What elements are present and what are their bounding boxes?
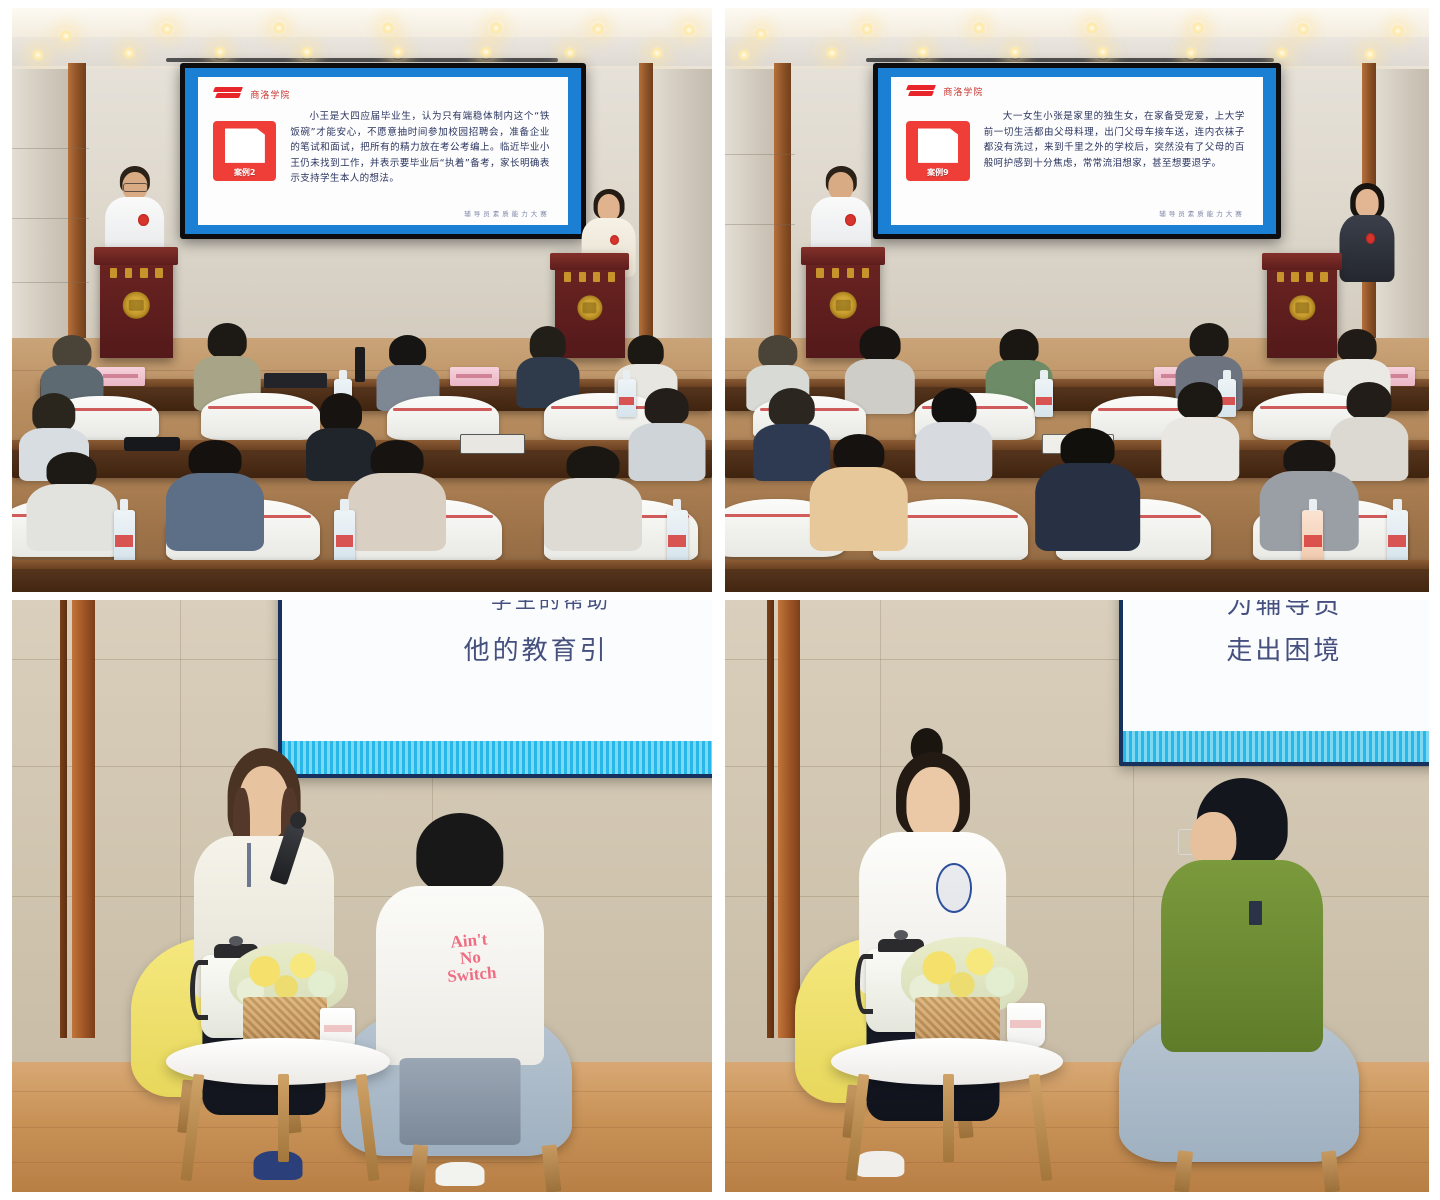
podium-emblem-icon: [830, 292, 857, 319]
water-bottle: [1302, 510, 1323, 563]
ceiling-spot-icon: [1190, 20, 1206, 36]
audience-member: [348, 440, 446, 551]
university-logo: 商洛学院: [907, 85, 983, 98]
podium-top: [94, 247, 178, 265]
audience-member: [1161, 382, 1238, 481]
ceiling-spot-icon: [824, 45, 840, 61]
paper-cup: [1007, 1003, 1046, 1047]
hair: [1347, 382, 1392, 420]
torso: [348, 473, 446, 551]
ceiling-rail: [166, 58, 558, 62]
ceiling-spot-icon: [1095, 44, 1111, 60]
ceiling-spot-icon: [681, 22, 697, 38]
chest-badge: [845, 214, 856, 226]
slide-text-line2: 他的教育引: [464, 630, 609, 667]
shirt-emblem-icon: [936, 863, 973, 913]
projection-screen: 商洛学院 案例9 大一女生小张是家里的独生女，在家备受宠爱，上大学前一切生活都由…: [873, 63, 1281, 238]
wall-pillar-left: [725, 69, 781, 338]
document-icon: [918, 128, 959, 162]
projection-screen: 为辅导员 走出困境: [1119, 600, 1429, 766]
logo-name: 商洛学院: [250, 91, 290, 101]
podium-top: [1262, 253, 1342, 270]
wall-seam: [12, 148, 89, 149]
hair: [1000, 329, 1039, 363]
audience-member: [26, 452, 117, 551]
ceiling-spot-icon: [212, 44, 228, 60]
case-body-text: 大一女生小张是家里的独生女，在家备受宠爱，上大学前一切生活都由父母料理，出门父母…: [984, 109, 1245, 201]
torso: [1035, 463, 1141, 551]
slide-text-line1: 为辅导员: [1226, 600, 1342, 621]
chest-badge: [1366, 233, 1375, 244]
panel-bottom-right: 为辅导员 走出困境: [725, 600, 1429, 1192]
ceiling-spot-icon: [478, 44, 494, 60]
slide-content: 商洛学院 案例9 大一女生小张是家里的独生女，在家备受宠爱，上大学前一切生活都由…: [891, 77, 1264, 226]
screen-edge-pattern: [282, 741, 712, 774]
slide-content: 商洛学院 案例2 小王是大四应届毕业生，认为只有端稳体制内这个“铁饭碗”才能安心…: [198, 77, 569, 226]
nameplate: [96, 367, 145, 386]
kettle-handle: [855, 954, 873, 1014]
photo-collage: 商洛学院 案例2 小王是大四应届毕业生，认为只有端稳体制内这个“铁饭碗”才能安心…: [0, 0, 1440, 1200]
glasses-icon: [123, 183, 149, 192]
panel-top-right: 商洛学院 案例9 大一女生小张是家里的独生女，在家备受宠爱，上大学前一切生活都由…: [725, 8, 1429, 592]
wood-column-right: [639, 63, 653, 343]
podium-emblem-icon: [123, 292, 149, 318]
interview-scene-1: 学生的帮助 他的教育引: [12, 600, 712, 1192]
hair: [758, 335, 797, 368]
case-badge: 案例2: [213, 121, 276, 180]
kettle-handle: [190, 960, 208, 1020]
floor-plank: [12, 1162, 712, 1163]
ceiling-spot-icon: [1295, 21, 1311, 37]
podium-nameplate: [564, 271, 614, 284]
ceiling-spot-icon: [562, 45, 578, 61]
wall-seam: [12, 896, 712, 897]
torso: [166, 473, 264, 551]
slide-footer: 辅导员素质能力大赛: [1159, 208, 1245, 218]
ceiling-spot-icon: [859, 21, 875, 37]
student-person: Ain't No Switch: [376, 813, 544, 1145]
table-leg: [943, 1074, 954, 1163]
screen-inner: 商洛学院 案例2 小王是大四应届毕业生，认为只有端稳体制内这个“铁饭碗”才能安心…: [185, 68, 581, 233]
wood-column-left: [68, 63, 86, 343]
projection-screen: 商洛学院 案例2 小王是大四应届毕业生，认为只有端稳体制内这个“铁饭碗”才能安心…: [180, 63, 586, 238]
audience-table-near: [12, 560, 712, 592]
torso: [544, 478, 642, 552]
wood-column: [72, 600, 96, 1038]
wall-seam: [12, 218, 89, 219]
lecture-hall-scene-2: 商洛学院 案例9 大一女生小张是家里的独生女，在家备受宠爱，上大学前一切生活都由…: [725, 8, 1429, 592]
ceiling-spot-icon: [58, 28, 74, 44]
hair: [1337, 329, 1376, 362]
hair: [627, 335, 664, 367]
audience-member: [544, 446, 642, 551]
wall-seam: [725, 154, 795, 155]
kettle-knob: [229, 936, 243, 946]
wood-column-left: [774, 63, 791, 343]
podium-top: [550, 253, 630, 270]
wall-pillar-right: [649, 69, 712, 338]
tablet: [460, 434, 525, 454]
podium-emblem-icon: [577, 295, 602, 320]
ceiling-spot-icon: [1390, 23, 1406, 39]
shirt-tag: [1249, 901, 1262, 925]
water-bottle: [334, 510, 355, 563]
chair-cover: [201, 393, 320, 440]
ceiling-spot-icon: [30, 47, 46, 63]
ceiling-spot-icon: [380, 20, 396, 36]
ceiling-spot-icon: [971, 20, 987, 36]
hair: [529, 326, 566, 360]
hair: [644, 388, 689, 425]
wall-seam: [725, 224, 795, 225]
ceiling-spot-icon: [736, 47, 752, 63]
nameplate: [450, 367, 499, 386]
hair: [769, 388, 815, 427]
tshirt-text: Ain't No Switch: [418, 928, 523, 988]
audience-table-near: [725, 560, 1429, 592]
head: [1191, 812, 1236, 867]
ceiling-spot-icon: [1007, 44, 1023, 60]
logo-name: 商洛学院: [943, 85, 983, 98]
case-label: 案例9: [927, 167, 949, 178]
hair: [859, 326, 900, 361]
hair: [567, 446, 620, 482]
university-logo: 商洛学院: [214, 85, 290, 103]
wall-pillar-left: [12, 69, 75, 338]
sneaker: [436, 1162, 485, 1186]
wall-seam: [725, 766, 1429, 767]
wall-seam: [12, 282, 89, 283]
head: [597, 194, 620, 220]
audience-member: [845, 326, 915, 414]
hair: [32, 393, 75, 432]
audience-member: [809, 434, 908, 551]
hair: [931, 388, 976, 425]
torso: [809, 467, 908, 551]
shoe: [855, 1151, 904, 1178]
hair: [46, 452, 97, 488]
head: [1356, 189, 1379, 217]
water-bottle: [1387, 510, 1408, 563]
audience-member: [166, 440, 264, 551]
wall-seam: [725, 896, 1429, 897]
wood-column: [778, 600, 801, 1038]
screen-inner: 为辅导员 走出困境: [1123, 600, 1429, 762]
water-bottle: [667, 510, 688, 563]
hair: [208, 323, 247, 358]
presenter-left: [809, 166, 872, 259]
screen-inner: 学生的帮助 他的教育引: [282, 600, 712, 774]
hair: [416, 813, 503, 893]
panel-bottom-left: 学生的帮助 他的教育引: [12, 600, 712, 1192]
water-bottle: [1035, 379, 1053, 417]
ceiling-spot-icon: [1084, 20, 1100, 36]
wood-column-trim: [767, 600, 775, 1038]
case-badge: 案例9: [906, 121, 969, 180]
laptop: [264, 373, 327, 388]
presenter-right: [1337, 183, 1397, 282]
panel-top-left: 商洛学院 案例2 小王是大四应届毕业生，认为只有端稳体制内这个“铁饭碗”才能安心…: [12, 8, 712, 592]
hair: [1178, 382, 1223, 420]
audience-member: [915, 388, 992, 481]
projection-screen: 学生的帮助 他的教育引: [278, 600, 712, 778]
slide-text-line2: 走出困境: [1226, 630, 1342, 667]
screen-edge-pattern: [1123, 731, 1429, 762]
ceiling-spot-icon: [121, 45, 137, 61]
slide-footer: 辅导员素质能力大赛: [464, 208, 550, 218]
podium-nameplate: [1277, 271, 1328, 284]
torso: [26, 484, 117, 552]
ceiling-spot-icon: [1183, 45, 1199, 61]
ceiling-spot-icon: [1274, 45, 1290, 61]
ceiling-spot-icon: [753, 26, 769, 42]
logo-text-group: 商洛学院: [250, 85, 290, 103]
torso: [1340, 215, 1395, 283]
case-body-text: 小王是大四应届毕业生，认为只有端稳体制内这个“铁饭碗”才能安心，不愿意抽时间参加…: [290, 109, 549, 201]
torso-tshirt: [1161, 860, 1323, 1052]
audience-member: [1035, 428, 1141, 551]
hair: [189, 440, 242, 478]
case-label: 案例2: [234, 167, 256, 178]
ceiling-spot-icon: [1362, 46, 1378, 62]
head: [906, 767, 959, 840]
hair: [389, 335, 427, 367]
screen-inner: 商洛学院 案例9 大一女生小张是家里的独生女，在家备受宠爱，上大学前一切生活都由…: [878, 68, 1276, 233]
podium-left: [100, 247, 174, 358]
lecture-hall-scene-1: 商洛学院 案例2 小王是大四应届毕业生，认为只有端稳体制内这个“铁饭碗”才能安心…: [12, 8, 712, 592]
presenter-left: [103, 166, 166, 259]
podium-nameplate: [816, 266, 869, 279]
table-leg: [278, 1074, 289, 1163]
hair: [1190, 323, 1229, 358]
sl-logo-icon: [214, 87, 244, 100]
jeans: [400, 1058, 521, 1144]
water-bottle: [114, 510, 135, 563]
microphone-stand: [355, 347, 365, 382]
wood-column-trim: [60, 600, 68, 1038]
hair: [320, 393, 362, 432]
torso: [1161, 417, 1238, 481]
ceiling-spot-icon: [590, 21, 606, 37]
document-icon: [225, 128, 265, 162]
podium-nameplate: [110, 266, 163, 279]
sl-logo-icon: [907, 85, 937, 98]
hair: [52, 335, 91, 368]
student-person: [1161, 778, 1323, 1121]
podium-emblem-icon: [1290, 295, 1315, 320]
torso: [915, 422, 992, 481]
hair: [371, 440, 424, 478]
slide-text-line1: 学生的帮助: [491, 600, 611, 615]
interview-scene-2: 为辅导员 走出困境: [725, 600, 1429, 1192]
podium-top: [801, 247, 885, 265]
lanyard: [247, 843, 251, 887]
